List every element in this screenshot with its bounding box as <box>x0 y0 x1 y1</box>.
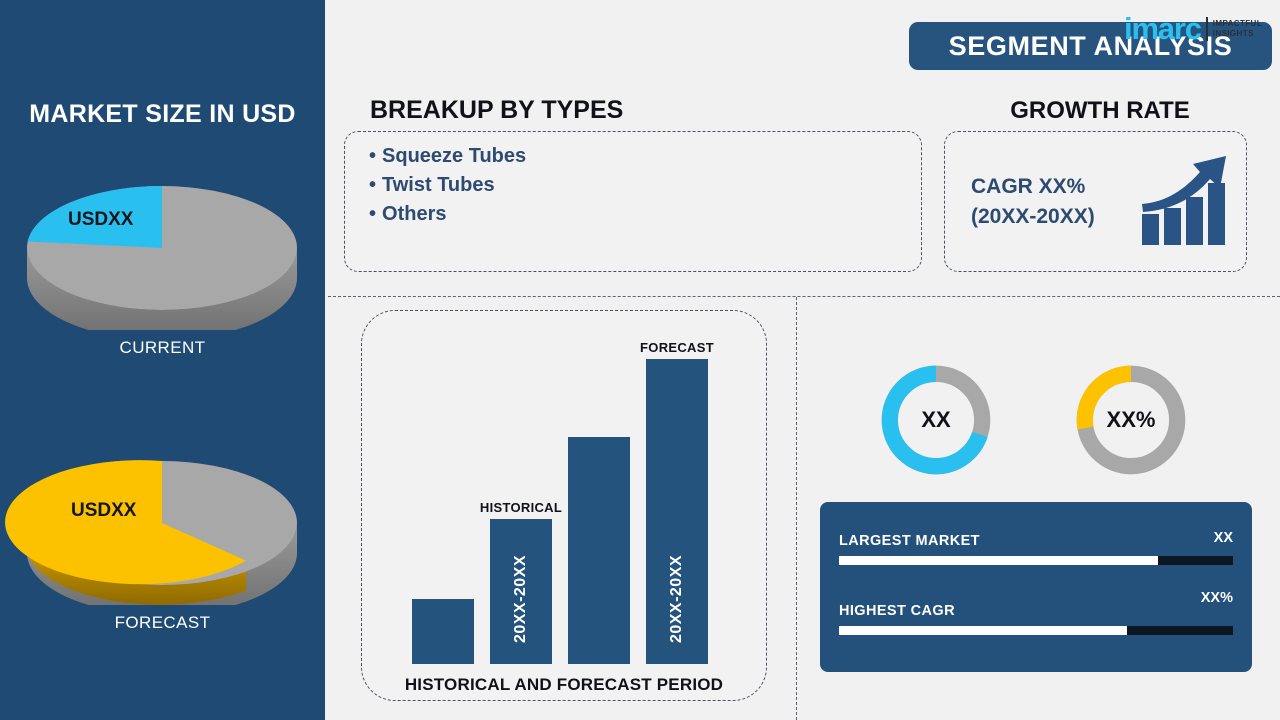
cagr-value: CAGR XX% <box>971 172 1095 202</box>
forecast-pie-block: USDXX FORECAST <box>0 440 325 633</box>
logo-wordmark: imarc <box>1124 13 1201 44</box>
infographic-root: MARKET SIZE IN USD <box>0 0 1280 720</box>
imarc-logo: imarc IMPACTFUL INSIGHTS <box>1124 13 1262 44</box>
stat-label: LARGEST MARKET <box>839 533 980 549</box>
market-size-panel: MARKET SIZE IN USD <box>0 0 325 720</box>
growth-arrow-chart-icon <box>1140 150 1232 255</box>
logo-divider <box>1206 17 1208 41</box>
stat-row-largest-market: LARGEST MARKET XX <box>839 532 1233 565</box>
bars-axis-label: HISTORICAL AND FORECAST PERIOD <box>361 675 767 695</box>
current-pie-caption: CURRENT <box>0 338 325 358</box>
highest-cagr-donut[interactable]: XX% <box>1070 359 1192 481</box>
key-indicators-panel: LARGEST MARKET XX HIGHEST CAGR XX% <box>820 502 1252 672</box>
types-list: •Squeeze Tubes •Twist Tubes •Others <box>369 142 526 229</box>
horizontal-divider <box>328 296 1280 297</box>
historical-forecast-chart: HISTORICAL 20XX-20XX FORECAST 20XX-20XX <box>361 310 767 701</box>
stat-progress-fill <box>839 626 1127 635</box>
bullet-icon: • <box>369 203 376 225</box>
forecast-pie-caption: FORECAST <box>0 613 325 633</box>
largest-market-donut[interactable]: XX <box>875 359 997 481</box>
bullet-icon: • <box>369 145 376 167</box>
list-item-label: Twist Tubes <box>382 174 495 196</box>
list-item[interactable]: •Twist Tubes <box>369 171 526 200</box>
pie-slice-usd <box>28 186 162 248</box>
cagr-text: CAGR XX% (20XX-20XX) <box>971 172 1095 232</box>
vertical-divider <box>796 297 797 720</box>
current-pie-block: USDXX CURRENT <box>0 165 325 358</box>
header: SEGMENT ANALYSIS imarc IMPACTFUL INSIGHT… <box>325 0 1280 92</box>
forecast-pie-chart: USDXX <box>0 440 325 605</box>
types-heading: BREAKUP BY TYPES <box>370 96 623 125</box>
logo-tagline: IMPACTFUL INSIGHTS <box>1213 19 1262 37</box>
logo-tagline-line1: IMPACTFUL <box>1213 19 1262 28</box>
forecast-pie-svg <box>0 440 325 605</box>
bar-4-range-label: 20XX-20XX <box>668 555 686 643</box>
current-pie-svg <box>0 165 325 330</box>
stat-value: XX <box>1214 530 1233 546</box>
list-item-label: Others <box>382 203 446 225</box>
market-size-title: MARKET SIZE IN USD <box>0 100 325 129</box>
list-item-label: Squeeze Tubes <box>382 145 526 167</box>
bar-3[interactable] <box>568 437 630 664</box>
list-item[interactable]: •Squeeze Tubes <box>369 142 526 171</box>
bar-1[interactable] <box>412 599 474 664</box>
largest-market-donut-label: XX <box>875 359 997 481</box>
bar-4-top-label: FORECAST <box>640 340 714 355</box>
bullet-icon: • <box>369 174 376 196</box>
growth-rate-heading: GROWTH RATE <box>944 97 1256 125</box>
cagr-period: (20XX-20XX) <box>971 202 1095 232</box>
stat-label: HIGHEST CAGR <box>839 603 955 619</box>
stat-progress-track <box>839 626 1233 635</box>
bar-2-range-label: 20XX-20XX <box>512 555 530 643</box>
logo-tagline-line2: INSIGHTS <box>1213 29 1262 38</box>
stat-progress-fill <box>839 556 1158 565</box>
bar-2-historical[interactable]: HISTORICAL 20XX-20XX <box>490 519 552 664</box>
current-pie-chart: USDXX <box>0 165 325 330</box>
bar-2-top-label: HISTORICAL <box>480 500 562 515</box>
stat-progress-track <box>839 556 1233 565</box>
stat-row-highest-cagr: HIGHEST CAGR XX% <box>839 602 1233 635</box>
bar-4-forecast[interactable]: FORECAST 20XX-20XX <box>646 359 708 664</box>
growth-rate-box: CAGR XX% (20XX-20XX) <box>944 131 1247 272</box>
highest-cagr-donut-label: XX% <box>1070 359 1192 481</box>
types-box: •Squeeze Tubes •Twist Tubes •Others <box>344 131 922 272</box>
list-item[interactable]: •Others <box>369 200 526 229</box>
growth-arrow-chart-svg <box>1140 150 1232 250</box>
stat-value: XX% <box>1201 590 1233 606</box>
